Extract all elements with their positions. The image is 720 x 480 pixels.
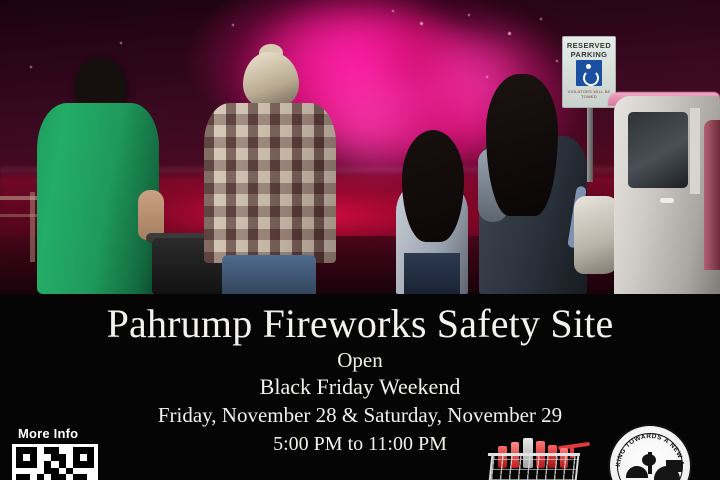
- qr-module: [73, 468, 80, 475]
- woman-hair: [486, 74, 558, 216]
- sign-post: [587, 96, 593, 182]
- qr-module: [73, 474, 80, 480]
- qr-module: [44, 454, 51, 461]
- qr-module: [87, 454, 94, 461]
- fireworks-photo: RESERVED PARKING VIOLATORS WILL BE TOWED: [0, 0, 720, 294]
- svg-text:WORKING TOWARDS A NEW AND B: WORKING TOWARDS A NEW AND B: [610, 426, 685, 467]
- qr-module: [66, 454, 73, 461]
- spark: [392, 10, 394, 12]
- qr-module: [66, 468, 73, 475]
- detail-open: Open: [0, 348, 720, 373]
- qr-module: [23, 474, 30, 480]
- sign-line-2: PARKING: [563, 50, 615, 59]
- qr-module: [23, 461, 30, 468]
- detail-weekend: Black Friday Weekend: [0, 373, 720, 401]
- qr-module: [51, 454, 58, 461]
- qr-module: [59, 454, 66, 461]
- qr-module: [30, 461, 37, 468]
- person-plaid-head: [243, 52, 299, 108]
- spark: [508, 32, 511, 35]
- qr-module: [87, 447, 94, 454]
- qr-module: [59, 468, 66, 475]
- qr-module: [16, 474, 23, 480]
- sign-subtext: VIOLATORS WILL BE TOWED: [563, 89, 615, 99]
- fence-post: [30, 192, 35, 262]
- qr-module: [30, 447, 37, 454]
- town-seal: WORKING TOWARDS A NEW AND B P: [608, 424, 692, 480]
- qr-module: [30, 474, 37, 480]
- qr-module: [59, 447, 66, 454]
- qr-module: [59, 461, 66, 468]
- qr-module: [23, 447, 30, 454]
- spark: [30, 66, 32, 68]
- child-skirt: [404, 253, 460, 294]
- person-plaid-body: [204, 103, 336, 263]
- qr-module: [80, 474, 87, 480]
- qr-module: [51, 447, 58, 454]
- qr-module: [80, 461, 87, 468]
- spark: [232, 24, 234, 26]
- qr-module: [66, 461, 73, 468]
- spark: [420, 22, 423, 25]
- qr-module: [51, 468, 58, 475]
- spark: [468, 14, 470, 16]
- qr-module: [37, 474, 44, 480]
- event-poster: RESERVED PARKING VIOLATORS WILL BE TOWED…: [0, 0, 720, 480]
- qr-module: [80, 454, 87, 461]
- qr-module: [44, 474, 51, 480]
- qr-module: [80, 447, 87, 454]
- qr-module: [87, 468, 94, 475]
- qr-module: [23, 454, 30, 461]
- qr-module: [30, 468, 37, 475]
- qr-module: [30, 454, 37, 461]
- qr-module: [16, 461, 23, 468]
- sign-line-1: RESERVED: [563, 41, 615, 50]
- vehicle-window: [628, 112, 688, 188]
- shopping-cart-with-fireworks: [484, 440, 592, 480]
- qr-module: [51, 474, 58, 480]
- qr-module: [37, 461, 44, 468]
- vehicle-door-handle: [660, 198, 674, 203]
- page-title: Pahrump Fireworks Safety Site: [0, 300, 720, 347]
- qr-module: [73, 461, 80, 468]
- qr-module: [87, 474, 94, 480]
- wheelchair-accessible-icon: [576, 60, 602, 86]
- qr-module: [80, 468, 87, 475]
- fence-rail: [0, 214, 40, 217]
- vehicle-pillar: [690, 108, 700, 194]
- qr-module: [44, 447, 51, 454]
- vehicle-side-edge: [704, 120, 720, 270]
- qr-module: [16, 447, 23, 454]
- qr-module: [66, 474, 73, 480]
- qr-module: [51, 461, 58, 468]
- qr-module: [73, 454, 80, 461]
- spark: [120, 42, 122, 44]
- qr-module: [44, 468, 51, 475]
- qr-module: [37, 454, 44, 461]
- more-info-label: More Info: [12, 426, 104, 441]
- qr-module: [66, 447, 73, 454]
- qr-module: [37, 468, 44, 475]
- qr-module: [87, 461, 94, 468]
- spark: [540, 18, 542, 20]
- spark: [486, 76, 488, 78]
- qr-module: [37, 447, 44, 454]
- person-plaid-jeans: [222, 255, 316, 294]
- qr-module: [73, 447, 80, 454]
- cart-basket: [489, 454, 580, 480]
- seal-ring-text: WORKING TOWARDS A NEW AND B: [610, 426, 690, 480]
- more-info-block[interactable]: More Info: [12, 426, 104, 480]
- spark: [556, 60, 558, 62]
- qr-module: [44, 461, 51, 468]
- qr-module: [59, 474, 66, 480]
- qr-code[interactable]: [12, 444, 98, 480]
- child-hair: [402, 130, 464, 242]
- qr-module: [16, 468, 23, 475]
- qr-module: [16, 454, 23, 461]
- qr-module: [23, 468, 30, 475]
